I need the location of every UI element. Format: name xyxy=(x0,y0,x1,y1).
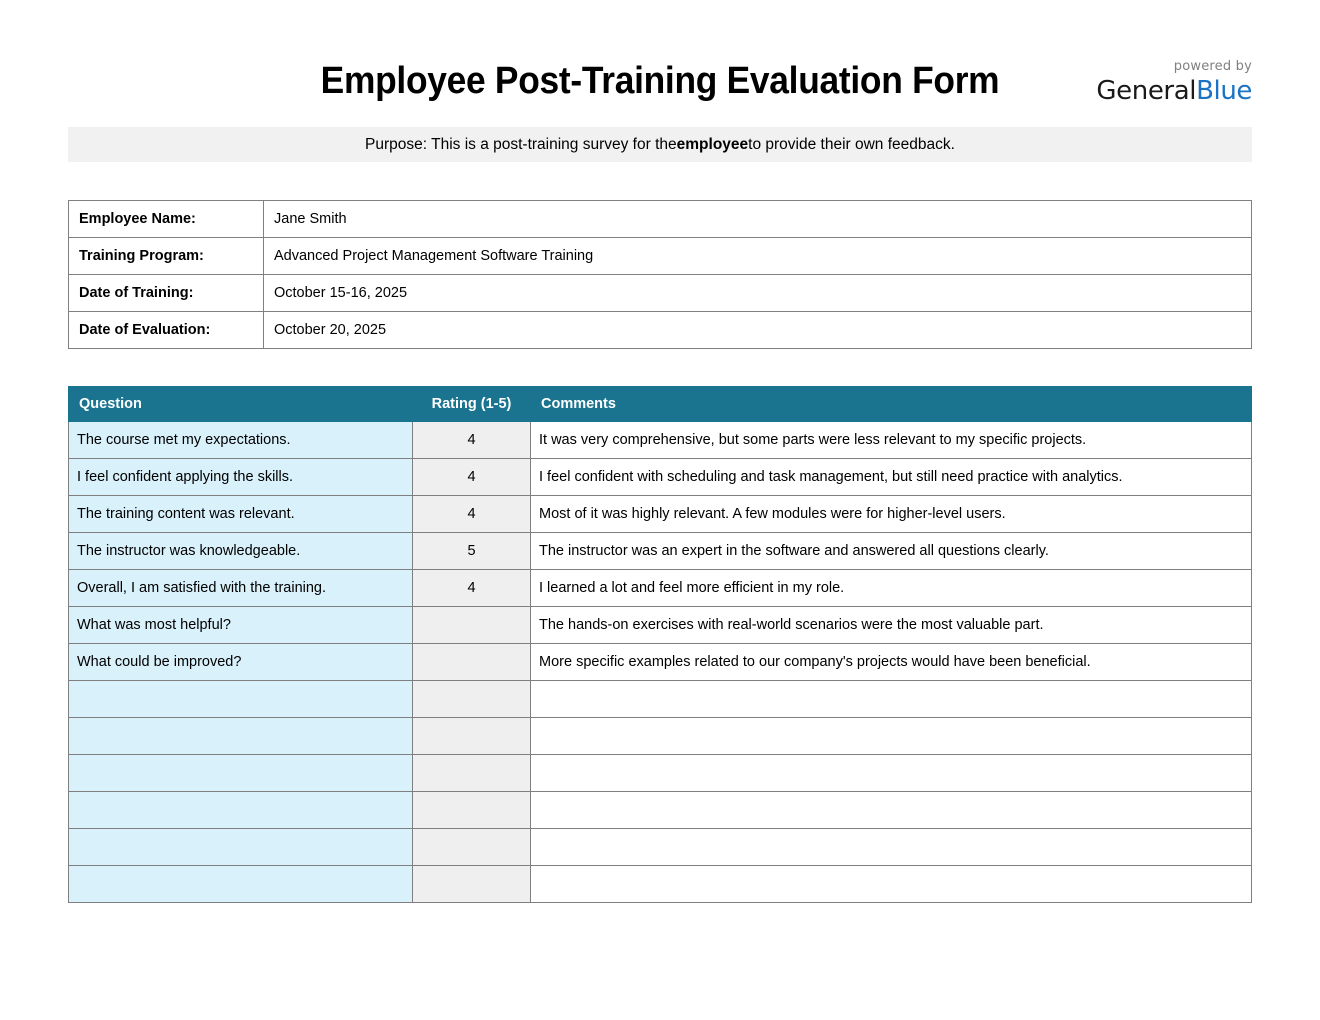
table-row: Training Program: Advanced Project Manag… xyxy=(69,238,1252,275)
rating-cell[interactable]: 4 xyxy=(413,459,531,496)
rating-cell[interactable] xyxy=(413,829,531,866)
info-label-date-of-training: Date of Training: xyxy=(69,275,264,312)
question-cell[interactable] xyxy=(69,755,413,792)
info-label-training-program: Training Program: xyxy=(69,238,264,275)
question-cell[interactable] xyxy=(69,866,413,903)
table-row: Date of Evaluation: October 20, 2025 xyxy=(69,312,1252,349)
question-cell[interactable]: I feel confident applying the skills. xyxy=(69,459,413,496)
form-page: Employee Post-Training Evaluation Form p… xyxy=(0,0,1320,1020)
comments-cell[interactable]: More specific examples related to our co… xyxy=(531,644,1252,681)
info-label-employee-name: Employee Name: xyxy=(69,201,264,238)
question-cell[interactable]: What could be improved? xyxy=(69,644,413,681)
table-row: I feel confident applying the skills.4I … xyxy=(69,459,1252,496)
column-header-comments: Comments xyxy=(531,387,1252,422)
purpose-text-prefix: Purpose: This is a post-training survey … xyxy=(365,136,677,154)
info-value-employee-name[interactable]: Jane Smith xyxy=(264,201,1252,238)
table-row: What could be improved?More specific exa… xyxy=(69,644,1252,681)
rating-cell[interactable] xyxy=(413,866,531,903)
info-label-date-of-evaluation: Date of Evaluation: xyxy=(69,312,264,349)
brand-name-secondary: Blue xyxy=(1196,76,1252,106)
column-header-rating: Rating (1-5) xyxy=(413,387,531,422)
question-cell[interactable] xyxy=(69,718,413,755)
brand-logo: powered by GeneralBlue xyxy=(1096,60,1252,104)
table-row xyxy=(69,866,1252,903)
comments-cell[interactable] xyxy=(531,866,1252,903)
rating-cell[interactable] xyxy=(413,607,531,644)
table-row xyxy=(69,755,1252,792)
employee-info-body: Employee Name: Jane Smith Training Progr… xyxy=(69,201,1252,349)
question-cell[interactable] xyxy=(69,792,413,829)
comments-cell[interactable] xyxy=(531,829,1252,866)
rating-cell[interactable] xyxy=(413,755,531,792)
comments-cell[interactable]: The hands-on exercises with real-world s… xyxy=(531,607,1252,644)
question-cell[interactable]: Overall, I am satisfied with the trainin… xyxy=(69,570,413,607)
purpose-banner: Purpose: This is a post-training survey … xyxy=(68,127,1252,162)
question-cell[interactable]: What was most helpful? xyxy=(69,607,413,644)
table-row xyxy=(69,829,1252,866)
rating-cell[interactable] xyxy=(413,644,531,681)
column-header-question: Question xyxy=(69,387,413,422)
powered-by-label: powered by xyxy=(1096,60,1252,73)
table-row xyxy=(69,792,1252,829)
rating-cell[interactable]: 5 xyxy=(413,533,531,570)
comments-cell[interactable] xyxy=(531,792,1252,829)
comments-cell[interactable] xyxy=(531,681,1252,718)
table-row: Employee Name: Jane Smith xyxy=(69,201,1252,238)
comments-cell[interactable]: I learned a lot and feel more efficient … xyxy=(531,570,1252,607)
purpose-text-suffix: to provide their own feedback. xyxy=(748,136,955,154)
info-value-date-of-training[interactable]: October 15-16, 2025 xyxy=(264,275,1252,312)
rating-cell[interactable]: 4 xyxy=(413,496,531,533)
evaluation-table-body: The course met my expectations.4It was v… xyxy=(69,422,1252,903)
evaluation-table-head: Question Rating (1-5) Comments xyxy=(69,387,1252,422)
comments-cell[interactable] xyxy=(531,755,1252,792)
table-row: The instructor was knowledgeable.5The in… xyxy=(69,533,1252,570)
rating-cell[interactable]: 4 xyxy=(413,422,531,459)
table-row: Date of Training: October 15-16, 2025 xyxy=(69,275,1252,312)
header-zone: Employee Post-Training Evaluation Form p… xyxy=(0,0,1320,118)
table-row: The training content was relevant.4Most … xyxy=(69,496,1252,533)
comments-cell[interactable]: Most of it was highly relevant. A few mo… xyxy=(531,496,1252,533)
page-title: Employee Post-Training Evaluation Form xyxy=(46,62,1274,100)
comments-cell[interactable]: It was very comprehensive, but some part… xyxy=(531,422,1252,459)
table-row xyxy=(69,681,1252,718)
table-header-row: Question Rating (1-5) Comments xyxy=(69,387,1252,422)
question-cell[interactable]: The course met my expectations. xyxy=(69,422,413,459)
question-cell[interactable]: The instructor was knowledgeable. xyxy=(69,533,413,570)
table-row: The course met my expectations.4It was v… xyxy=(69,422,1252,459)
rating-cell[interactable]: 4 xyxy=(413,570,531,607)
rating-cell[interactable] xyxy=(413,792,531,829)
question-cell[interactable]: The training content was relevant. xyxy=(69,496,413,533)
purpose-text-emphasis: employee xyxy=(677,136,749,154)
info-value-training-program[interactable]: Advanced Project Management Software Tra… xyxy=(264,238,1252,275)
table-row: What was most helpful?The hands-on exerc… xyxy=(69,607,1252,644)
table-row xyxy=(69,718,1252,755)
evaluation-table: Question Rating (1-5) Comments The cours… xyxy=(68,386,1252,903)
comments-cell[interactable]: The instructor was an expert in the soft… xyxy=(531,533,1252,570)
rating-cell[interactable] xyxy=(413,681,531,718)
employee-info-table: Employee Name: Jane Smith Training Progr… xyxy=(68,200,1252,349)
comments-cell[interactable] xyxy=(531,718,1252,755)
info-value-date-of-evaluation[interactable]: October 20, 2025 xyxy=(264,312,1252,349)
brand-name: GeneralBlue xyxy=(1096,78,1252,104)
table-row: Overall, I am satisfied with the trainin… xyxy=(69,570,1252,607)
question-cell[interactable] xyxy=(69,829,413,866)
comments-cell[interactable]: I feel confident with scheduling and tas… xyxy=(531,459,1252,496)
rating-cell[interactable] xyxy=(413,718,531,755)
question-cell[interactable] xyxy=(69,681,413,718)
brand-name-primary: General xyxy=(1096,76,1196,106)
